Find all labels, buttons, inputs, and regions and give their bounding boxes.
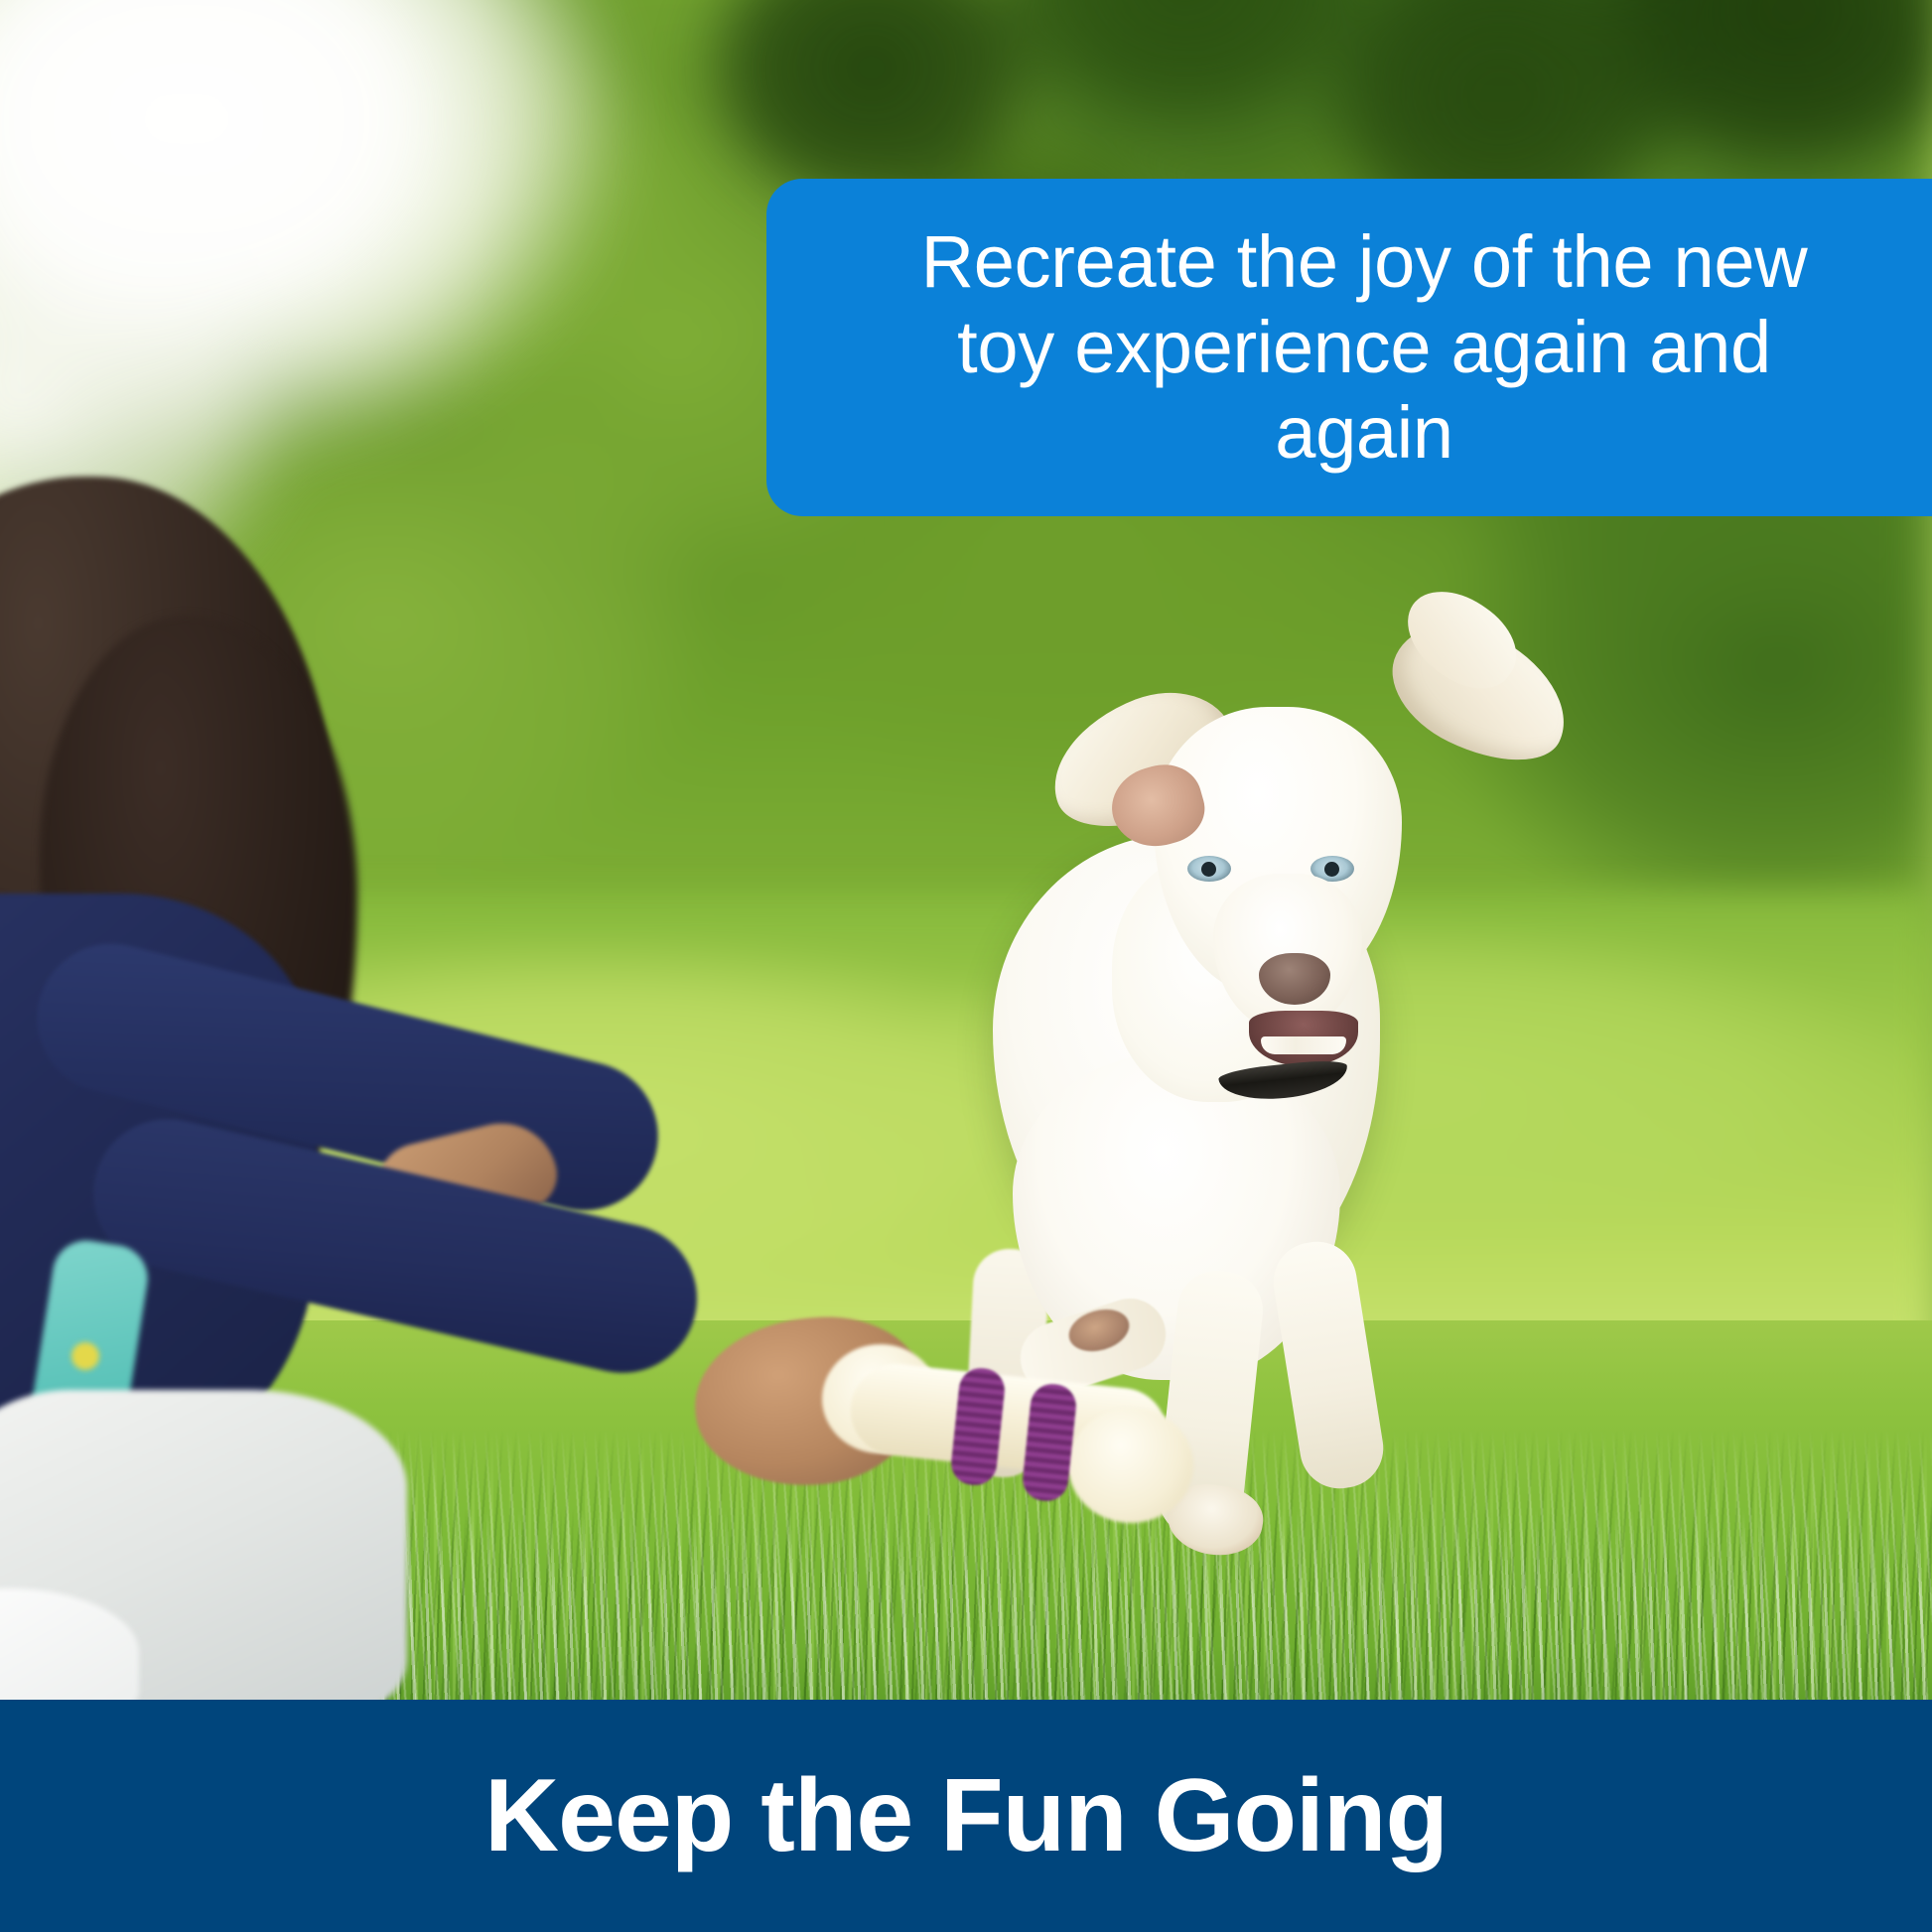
callout-box: Recreate the joy of the new toy experien… [766,179,1932,516]
ad-creative: Recreate the joy of the new toy experien… [0,0,1932,1932]
callout-text: Recreate the joy of the new toy experien… [866,219,1863,475]
banner-headline: Keep the Fun Going [484,1764,1448,1867]
bottom-banner: Keep the Fun Going [0,1700,1932,1932]
toy-right-knob [1068,1408,1193,1523]
